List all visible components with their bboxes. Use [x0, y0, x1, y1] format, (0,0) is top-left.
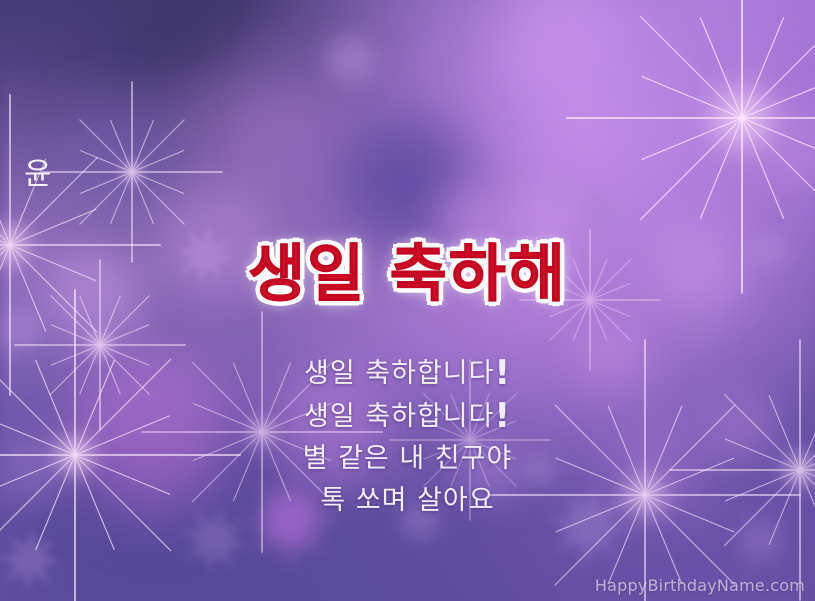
verse-line-text: 별 같은 내 친구야	[303, 443, 513, 474]
page-title: 생일 축하해	[0, 240, 815, 308]
verse-line-text: 톡 쏘며 살아요	[320, 485, 494, 516]
verse-line: 별 같은 내 친구야	[0, 438, 815, 480]
watermark: HappyBirthdayName.com	[595, 576, 805, 595]
verse-line-text: 생일 축하합니다	[304, 358, 494, 389]
verse-line: 톡 쏘며 살아요	[0, 480, 815, 522]
verse-exclamation: !	[494, 396, 511, 436]
verse-block: 생일 축하합니다!생일 축하합니다!별 같은 내 친구야톡 쏘며 살아요	[0, 352, 815, 522]
verse-exclamation: !	[494, 353, 511, 393]
verse-line-text: 생일 축하합니다	[304, 401, 494, 432]
birthday-card: 윤 생일 축하해 생일 축하합니다!생일 축하합니다!별 같은 내 친구야톡 쏘…	[0, 0, 815, 601]
recipient-name: 윤	[24, 160, 52, 190]
verse-line: 생일 축하합니다!	[0, 352, 815, 395]
verse-line: 생일 축하합니다!	[0, 395, 815, 438]
